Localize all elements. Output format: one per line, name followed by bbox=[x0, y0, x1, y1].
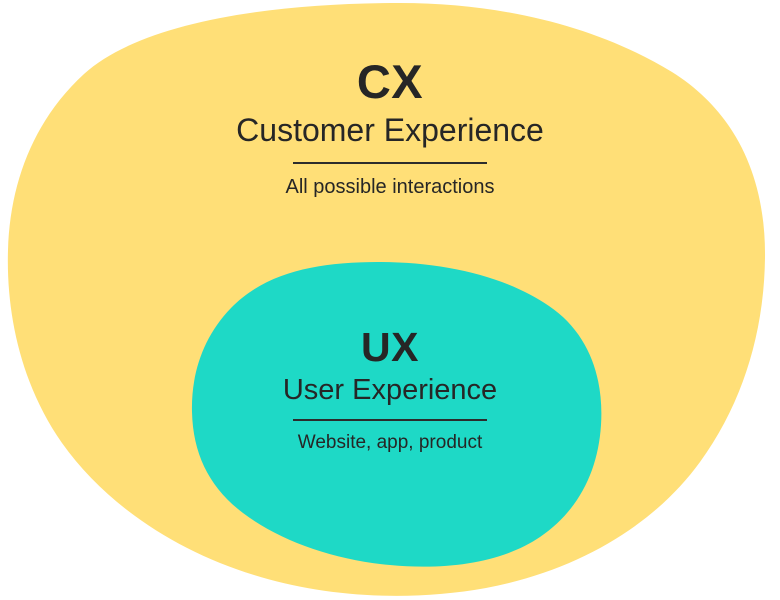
ux-divider-line bbox=[293, 419, 487, 421]
ux-label-group: UX User Experience Website, app, product bbox=[0, 327, 780, 454]
cx-full-name: Customer Experience bbox=[0, 113, 780, 148]
cx-caption: All possible interactions bbox=[0, 176, 780, 198]
cx-acronym: CX bbox=[0, 58, 780, 105]
cx-divider-wrap bbox=[0, 162, 780, 164]
cx-label-group: CX Customer Experience All possible inte… bbox=[0, 58, 780, 198]
ux-acronym: UX bbox=[0, 327, 780, 368]
ux-divider-wrap bbox=[0, 419, 780, 421]
diagram-canvas: CX Customer Experience All possible inte… bbox=[0, 0, 780, 600]
ux-caption: Website, app, product bbox=[0, 433, 780, 454]
cx-divider-line bbox=[293, 162, 487, 164]
ux-full-name: User Experience bbox=[0, 375, 780, 406]
